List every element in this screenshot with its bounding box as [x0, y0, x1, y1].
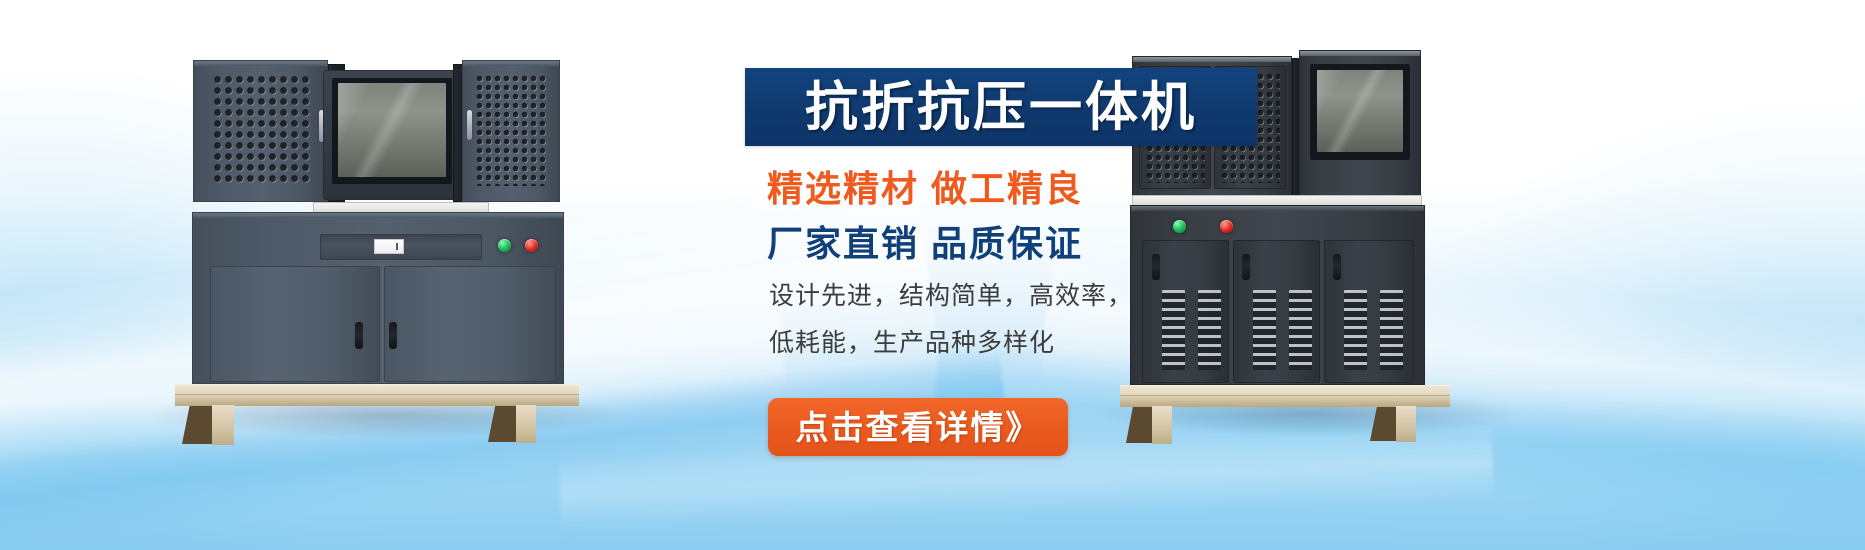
description-line-2: 低耗能，生产品种多样化	[769, 323, 1055, 359]
body-top-lip	[193, 213, 563, 218]
louvre-door-handle-right	[1333, 254, 1341, 280]
indicator-red-icon	[525, 239, 538, 252]
headline-orange: 精选精材 做工精良	[767, 160, 1083, 212]
monitor-screen	[338, 83, 446, 177]
description-line-1: 设计先进，结构简单，高效率，	[769, 276, 1133, 312]
monitor-screen	[1317, 70, 1403, 152]
perforated-panel-icon	[212, 74, 311, 184]
vent-louvre-icon	[1289, 290, 1312, 370]
page-title: 抗折抗压一体机	[805, 81, 1197, 134]
cabinet-top-lip	[1133, 57, 1291, 62]
cabinet-top-lip	[463, 61, 559, 66]
cabinet-handle-right	[467, 110, 472, 140]
promo-copy-block: 抗折抗压一体机 精选精材 做工精良 厂家直销 品质保证 设计先进，结构简单，高效…	[745, 68, 1285, 468]
promo-banner: 抗折抗压一体机 精选精材 做工精良 厂家直销 品质保证 设计先进，结构简单，高效…	[0, 0, 1865, 550]
lower-door-right	[384, 266, 556, 382]
cta-button[interactable]: 点击查看详情》	[768, 398, 1068, 456]
indicator-green-icon	[498, 239, 511, 252]
vent-louvre-icon	[1380, 290, 1403, 370]
vent-louvre-icon	[1344, 290, 1367, 370]
door-handle-left	[355, 322, 363, 349]
wooden-pallet	[175, 384, 579, 406]
pallet-foot-right	[1396, 406, 1416, 442]
pallet-foot-left	[212, 405, 234, 445]
headline-navy: 厂家直销 品质保证	[767, 215, 1083, 267]
title-band: 抗折抗压一体机	[745, 68, 1257, 146]
left-machine-photo	[170, 48, 580, 423]
door-handle-right	[389, 322, 397, 349]
cta-button-label: 点击查看详情》	[796, 411, 1041, 444]
perforated-panel-icon	[475, 74, 547, 186]
cabinet-top-lip	[1300, 51, 1420, 56]
pallet-seam	[175, 394, 579, 395]
name-plate	[374, 239, 404, 254]
cabinet-top-lip	[194, 61, 327, 66]
pallet-foot-right	[516, 405, 536, 443]
